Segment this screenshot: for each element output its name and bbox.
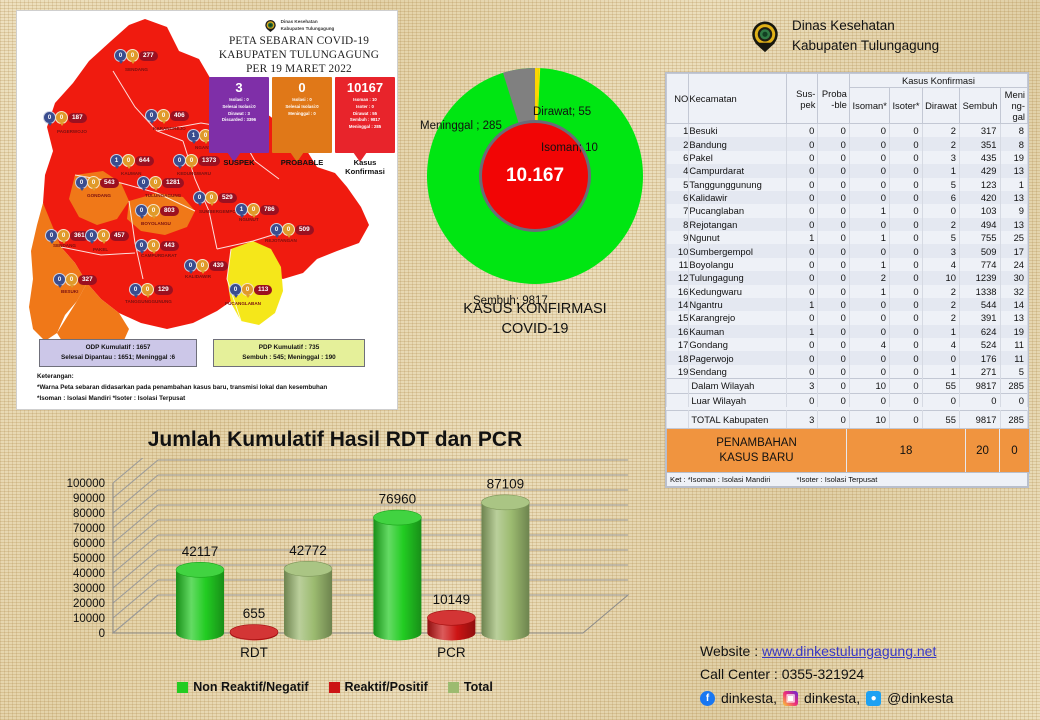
map-district-label: TANGGUNGGUNUNG [125,299,172,304]
cell-dirawat: 4 [922,258,959,271]
dinkes-logo-icon [748,19,782,53]
dinkes-header-text: Dinas Kesehatan Kabupaten Tulungagung [792,16,939,55]
map-badge-isoter-pin: 0 [241,283,254,296]
instagram-icon[interactable]: ▣ [783,691,798,706]
cell-meninggal: 13 [1000,311,1028,324]
cell-meninggal: 14 [1000,298,1028,311]
th-meninggal-l1: Meni [1005,89,1025,100]
cell-isoman: 0 [849,351,889,364]
cell-isoman: 0 [849,244,889,257]
chart-legend-swatch [329,682,340,693]
cell-isoter: 0 [889,285,922,298]
cell-kecamatan: Kalidawir [689,191,787,204]
cell-dirawat: 2 [922,311,959,324]
cell-kecamatan: Besuki [689,124,787,138]
donut-hole [482,123,588,229]
legend-pdp-box: PDP Kumulatif : 735 Sembuh : 545; Mening… [213,339,365,367]
chart-grid-depth [113,475,158,513]
cell-no: 19 [667,365,689,379]
table-row: 10Sumbergempol0000350917 [667,244,1028,257]
map-badge-isoter-pin: 0 [97,229,110,242]
map-badge: 00327 [53,273,97,286]
th-no: NO [667,74,689,124]
cell-suspek: 0 [786,393,818,407]
cell-dirawat: 5 [922,178,959,191]
cell-suspek: 0 [786,258,818,271]
table-summary-row: Dalam Wilayah30100559817285 [667,379,1028,393]
chart-ytick-label: 0 [99,628,105,640]
footer-callcenter: Call Center : 0355-321924 [700,663,1030,686]
cell-summary-label: Dalam Wilayah [689,379,787,393]
map-keterangan: Keterangan: *Warna Peta sebaran didasark… [37,371,327,404]
cell-probable: 0 [818,218,850,231]
cell-meninggal: 30 [1000,271,1028,284]
bar-top [427,610,475,625]
map-badge: 00543 [75,176,119,189]
table-row: 6Kalidawir0000642013 [667,191,1028,204]
callout-konfirmasi-d5: Meninggal : 285 [335,124,395,131]
bar-RDT-2 [284,561,332,640]
cell-suspek: 0 [786,178,818,191]
cell-meninggal: 0 [1000,393,1028,407]
th-probable: Proba-ble [818,74,850,124]
cell-isoman: 1 [849,258,889,271]
cell-suspek: 3 [786,379,818,393]
cell-suspek: 0 [786,151,818,164]
map-district-label: CAMPURDARAT [141,253,177,258]
cases-table-body: 1Besuki0000231782Bandung0000235186Pakel0… [667,124,1028,429]
cell-probable: 0 [818,311,850,324]
cell-isoman: 0 [849,298,889,311]
bar-top [176,562,224,577]
chart-legend-label: Reaktif/Positif [345,680,428,694]
cell-meninggal: 1 [1000,178,1028,191]
footer-socials: f dinkesta, ▣ dinkesta, ● @dinkesta [700,687,1030,710]
cell-meninggal: 32 [1000,285,1028,298]
cell-sembuh: 544 [959,298,1000,311]
cell-probable: 0 [818,204,850,217]
cell-isoter: 0 [889,244,922,257]
cell-isoter: 0 [889,178,922,191]
callout-suspek-d1: Isolasi : 0 [209,97,269,104]
chart-grid-depth [113,520,158,558]
bar-value-label: 76960 [379,492,417,507]
cell-probable: 0 [818,178,850,191]
cell-probable: 0 [818,285,850,298]
cell-no: 1 [667,124,689,138]
table-row: 6Pakel0000343519 [667,151,1028,164]
map-badge-isoter-pin: 0 [205,191,218,204]
bar-body [481,502,529,640]
cell-isoter: 0 [889,379,922,393]
th-meninggal: Mening-gal [1000,88,1028,124]
cell-kecamatan: Pagerwojo [689,351,787,364]
map-badge-isoter-pin: 0 [55,111,68,124]
map-badge: 00529 [193,191,237,204]
cell-isoman: 0 [849,151,889,164]
chart-ytick-label: 20000 [73,598,105,610]
bar-top [481,495,529,510]
chart-category-label: RDT [240,645,268,660]
footer-twitter-handle: @dinkesta [887,687,953,710]
cell-isoter: 0 [889,191,922,204]
cell-sembuh: 176 [959,351,1000,364]
map-badge: 00187 [43,111,87,124]
cell-kecamatan: Ngantru [689,298,787,311]
map-badge-count: 443 [160,241,179,251]
cell-dirawat: 1 [922,365,959,379]
cell-suspek: 0 [786,365,818,379]
cell-isoter: 0 [889,124,922,138]
th-kecamatan: Kecamatan [689,74,787,124]
cell-probable: 0 [818,258,850,271]
map-district-label: BESUKI [61,289,78,294]
cell-no: 14 [667,298,689,311]
chart-ytick-label: 10000 [73,613,105,625]
footer-website-link[interactable]: www.dinkestulungagung.net [762,643,936,659]
callout-probable-value: 0 [272,81,332,95]
map-badge-count: 529 [218,193,237,203]
cell-dirawat: 5 [922,231,959,244]
map-district-label: GONDANG [87,193,111,198]
cell-suspek: 1 [786,298,818,311]
cell-isoman: 1 [849,204,889,217]
legend-odp-line2: Selesai Dipantau : 1651; Meninggal :6 [42,353,194,363]
donut-label-isoman: Isoman; 10 [541,142,598,154]
table-row: 12Tulungagung002010123930 [667,271,1028,284]
new-cases-label-line2: KASUS BARU [716,451,797,465]
bar-top [284,561,332,576]
chart-legend-swatch [177,682,188,693]
map-district-label: KARANGREJO [153,126,186,131]
cell-suspek: 0 [786,244,818,257]
cell-probable: 0 [818,164,850,177]
cell-isoter: 0 [889,271,922,284]
footer-instagram-handle: dinkesta, [804,687,860,710]
map-badge-isoter-pin: 0 [141,283,154,296]
cell-no [667,393,689,407]
cell-isoman: 0 [849,393,889,407]
cell-probable: 0 [818,351,850,364]
dinkes-logo-icon [264,19,277,32]
cell-isoter: 0 [889,298,922,311]
donut-caption-line2: COVID-19 [405,320,665,340]
cell-sembuh: 420 [959,191,1000,204]
cell-no: 2 [667,137,689,150]
callout-label-suspek: SUSPEK [209,159,269,176]
cell-sembuh: 123 [959,178,1000,191]
bar-value-label: 10149 [433,592,471,607]
cell-suspek: 0 [786,164,818,177]
map-badge-count: 406 [170,111,189,121]
map-badge-isoter-pin: 0 [247,203,260,216]
cell-suspek: 0 [786,204,818,217]
cell-dirawat: 55 [922,411,959,429]
map-callouts: 3 Isolasi : 0 Selesai Isolasi:0 Dirawat … [209,77,395,153]
cell-meninggal: 24 [1000,258,1028,271]
chart-ytick-label: 50000 [73,553,105,565]
cell-isoter: 0 [889,351,922,364]
table-row: 5Tanggunggunung000051231 [667,178,1028,191]
cell-dirawat: 10 [922,271,959,284]
cell-isoman: 1 [849,231,889,244]
chart-ytick-label: 80000 [73,508,105,520]
legend-pdp-line2: Sembuh : 545; Meninggal : 190 [216,353,362,363]
cell-isoter: 0 [889,338,922,351]
cell-sembuh: 524 [959,338,1000,351]
cell-isoter: 0 [889,365,922,379]
new-cases-label-line1: PENAMBAHAN [716,436,797,450]
th-suspek: Sus-pek [786,74,818,124]
cell-dirawat: 55 [922,379,959,393]
bar-value-label: 87109 [487,476,525,491]
cell-suspek: 0 [786,351,818,364]
cell-meninggal: 8 [1000,137,1028,150]
map-badge-isoter-pin: 0 [87,176,100,189]
cell-suspek: 1 [786,325,818,338]
map-badge-count: 457 [110,231,129,241]
bar-value-label: 42117 [182,544,219,559]
chart-grid-depth [113,565,158,603]
cell-suspek: 0 [786,285,818,298]
cell-sembuh: 429 [959,164,1000,177]
callout-label-konfirmasi: Kasus Konfirmasi [335,159,395,176]
callout-probable-d2: Selesai Isolasi:0 [272,104,332,111]
cell-isoman: 1 [849,285,889,298]
footer-facebook-handle: dinkesta, [721,687,777,710]
map-badge: 00457 [85,229,129,242]
callout-suspek-d4: Discarded : 3396 [209,117,269,124]
chart-legend-item: Reaktif/Positif [329,680,428,694]
table-row: 17Gondang0040452411 [667,338,1028,351]
donut-caption: KASUS KONFIRMASI COVID-19 [405,300,665,339]
cell-isoman: 0 [849,218,889,231]
bar-body [373,518,421,641]
map-badge-count: 277 [139,51,158,61]
th-suspek-l1: Sus- [796,88,815,99]
chart-grid-depth [113,460,158,498]
map-district-label: PUCANGLABAN [225,301,261,306]
cell-probable: 0 [818,393,850,407]
map-badge-count: 129 [154,285,173,295]
bar-top [230,625,278,640]
map-title-line2: KABUPATEN TULUNGAGUNG [203,49,395,63]
chart-legend-swatch [448,682,459,693]
cell-isoter: 0 [889,204,922,217]
bar-value-label: 655 [243,606,266,621]
cell-isoman: 0 [849,325,889,338]
chart-ytick-label: 90000 [73,493,105,505]
cell-no: 15 [667,311,689,324]
cell-probable: 0 [818,325,850,338]
dinkes-header: Dinas Kesehatan Kabupaten Tulungagung [748,16,939,55]
cell-isoman: 4 [849,338,889,351]
th-meninggal-l2: ng- [1011,100,1025,111]
cell-probable: 0 [818,151,850,164]
cell-dirawat: 6 [922,191,959,204]
map-badge-isoter-pin: 0 [122,154,135,167]
cell-kecamatan: Tanggunggunung [689,178,787,191]
cell-kecamatan: Tulungagung [689,271,787,284]
new-cases-konfirmasi: 18 [847,429,966,472]
map-district-label: BOYOLANGU [141,221,171,226]
twitter-icon[interactable]: ● [866,691,881,706]
callout-konfirmasi-d1: Isoman : 10 [335,97,395,104]
th-group-konfirmasi: Kasus Konfirmasi [849,74,1027,88]
cell-meninggal: 17 [1000,244,1028,257]
map-badge-isoter-pin: 0 [282,223,295,236]
table-summary-row: Luar Wilayah0000000 [667,393,1028,407]
cell-isoman: 0 [849,178,889,191]
cell-dirawat: 2 [922,218,959,231]
bar-chart-svg: 0100002000030000400005000060000700008000… [10,458,660,668]
map-mini-logo-block: Dinas Kesehatan Kabupaten Tulungagung [203,19,395,32]
chart-grid-depth [113,595,158,633]
map-badge-isoter-pin: 0 [65,273,78,286]
table-row: 11Boyolangu0010477424 [667,258,1028,271]
callout-probable-d1: Isolasi : 0 [272,97,332,104]
map-badge: 00277 [114,49,158,62]
bar-top [373,510,421,525]
cell-dirawat: 0 [922,351,959,364]
callout-suspek: 3 Isolasi : 0 Selesai Isolasi:0 Dirawat … [209,77,269,153]
chart-grid-depth [113,490,158,528]
cell-suspek: 0 [786,124,818,138]
chart-ytick-label: 100000 [67,478,105,490]
map-district-label: PAGERWOJO [57,129,87,134]
cell-probable: 0 [818,244,850,257]
cell-meninggal: 19 [1000,151,1028,164]
chart-legend-label: Non Reaktif/Negatif [193,680,308,694]
cell-no: 17 [667,338,689,351]
th-suspek-l2: pek [800,99,815,110]
cell-probable: 0 [818,124,850,138]
cell-isoman: 0 [849,191,889,204]
callout-konfirmasi-d2: Isoter : 0 [335,104,395,111]
cell-meninggal: 285 [1000,411,1028,429]
table-row: 1Besuki000023178 [667,124,1028,138]
map-badge: 00113 [229,283,272,296]
map-badge: 00443 [135,239,179,252]
th-dirawat: Dirawat [922,88,959,124]
table-row: 2Bandung000023518 [667,137,1028,150]
cell-isoman: 10 [849,379,889,393]
chart-ytick-label: 60000 [73,538,105,550]
cell-kecamatan: Campurdarat [689,164,787,177]
chart-legend-item: Non Reaktif/Negatif [177,680,308,694]
bar-body [176,570,224,641]
cell-kecamatan: Sumbergempol [689,244,787,257]
cell-probable: 0 [818,379,850,393]
cell-sembuh: 9817 [959,379,1000,393]
cell-summary-label: Luar Wilayah [689,393,787,407]
map-badge: 00803 [135,204,179,217]
map-badge: 10786 [235,203,279,216]
cell-sembuh: 391 [959,311,1000,324]
map-badge-count: 644 [135,156,154,166]
map-badge-count: 327 [78,275,97,285]
cell-sembuh: 509 [959,244,1000,257]
chart-legend-item: Total [448,680,493,694]
table-header-row-1: NO Kecamatan Sus-pek Proba-ble Kasus Kon… [667,74,1028,88]
cell-sembuh: 1239 [959,271,1000,284]
table-row: 14Ngantru1000254414 [667,298,1028,311]
th-isoter: Isoter* [889,88,922,124]
cell-probable: 0 [818,191,850,204]
cell-kecamatan: Ngunut [689,231,787,244]
bar-RDT-0 [176,562,224,640]
map-badge-isoter-pin: 0 [147,204,160,217]
cell-isoter: 0 [889,393,922,407]
table-note: Ket : *Isoman : Isolasi Mandiri*Isoter :… [666,473,1028,487]
chart-grid-depth [113,535,158,573]
cell-probable: 0 [818,365,850,379]
th-probable-l2: -ble [831,99,847,110]
cell-no: 6 [667,151,689,164]
donut-chart-svg [427,68,643,284]
map-badge: 00129 [129,283,173,296]
cell-sembuh: 103 [959,204,1000,217]
cell-probable: 0 [818,338,850,351]
cell-no: 10 [667,244,689,257]
map-mini-logo-line2: Kabupaten Tulungagung [281,26,335,32]
cell-dirawat: 1 [922,325,959,338]
cell-isoter: 0 [889,325,922,338]
cell-isoter: 0 [889,137,922,150]
th-meninggal-l3: gal [1012,111,1025,122]
callout-suspek-value: 3 [209,81,269,95]
cell-no: 5 [667,178,689,191]
chart-ytick-label: 70000 [73,523,105,535]
callout-konfirmasi-d3: Dirawat : 55 [335,111,395,118]
cell-kecamatan: Bandung [689,137,787,150]
cases-table-head: NO Kecamatan Sus-pek Proba-ble Kasus Kon… [667,74,1028,124]
facebook-icon[interactable]: f [700,691,715,706]
cell-isoter: 0 [889,258,922,271]
map-panel: 00277SENDANG00187PAGERWOJO00406KARANGREJ… [16,10,398,410]
chart-grid-depth [113,580,158,618]
footer-website-row: Website : www.dinkestulungagung.net [700,640,1030,663]
cell-isoman: 10 [849,411,889,429]
cell-meninggal: 13 [1000,164,1028,177]
cell-probable: 0 [818,137,850,150]
new-cases-sembuh: 20 [966,429,1000,472]
new-cases-label: PENAMBAHAN KASUS BARU [667,429,847,472]
cell-dirawat: 1 [922,164,959,177]
cell-dirawat: 2 [922,137,959,150]
table-note-left: Ket : *Isoman : Isolasi Mandiri [670,475,770,484]
table-note-right: *Isoter : Isolasi Terpusat [796,475,877,484]
cell-no: 16 [667,285,689,298]
map-badge-isoter-pin: 0 [185,154,198,167]
cell-suspek: 0 [786,338,818,351]
cell-kecamatan: Kauman [689,325,787,338]
cell-isoter: 0 [889,218,922,231]
th-isoman: Isoman* [849,88,889,124]
cell-sembuh: 624 [959,325,1000,338]
map-badge: 001281 [137,176,184,189]
cell-dirawat: 3 [922,244,959,257]
bar-chart-panel: Jumlah Kumulatif Hasil RDT dan PCR 01000… [10,422,660,714]
th-sembuh: Sembuh [959,88,1000,124]
map-badge-count: 187 [68,113,87,123]
table-row: 16Kauman1000162419 [667,325,1028,338]
cell-isoter: 0 [889,231,922,244]
map-badge-count: 786 [260,205,279,215]
legend-odp-box: ODP Kumulatif : 1657 Selesai Dipantau : … [39,339,197,367]
cell-sembuh: 271 [959,365,1000,379]
dinkes-header-line1: Dinas Kesehatan [792,16,939,36]
